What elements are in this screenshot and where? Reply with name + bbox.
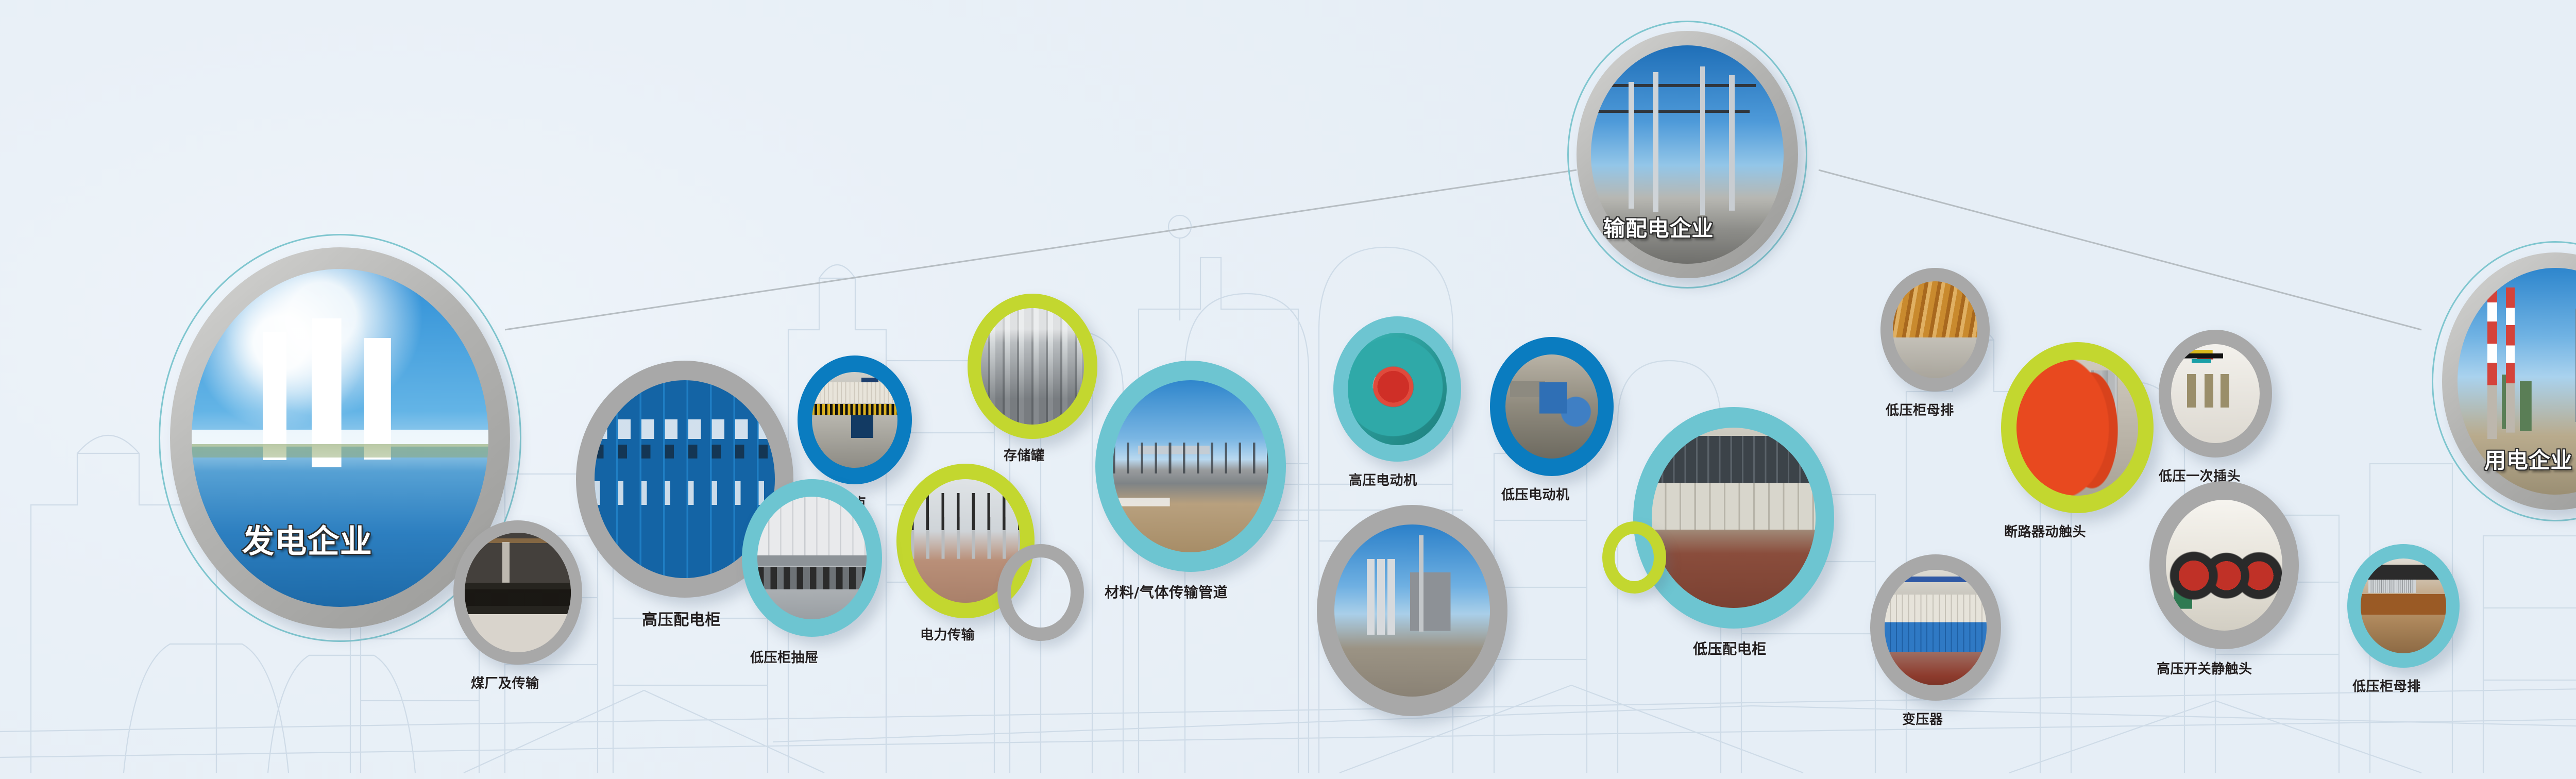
node-lv-busbar-top[interactable]: 低压柜母排 <box>1880 268 1990 392</box>
label-transformer: 变压器 <box>1902 709 1943 728</box>
label-hv-switchgear: 高压配电柜 <box>642 607 721 630</box>
node-lv-cabinet-drawer[interactable]: 低压柜抽屉 <box>742 479 882 637</box>
photo-lv-drawer <box>757 497 867 619</box>
node-material-gas-pipe[interactable]: 材料/气体传输管道 <box>1095 361 1286 572</box>
label-lv-busbar-top: 低压柜母排 <box>1886 400 1954 419</box>
photo-breaker-contact <box>2016 360 2138 496</box>
node-coal-transport[interactable]: 煤厂及传输 <box>453 520 582 665</box>
photo-lv-distribution-panel <box>1652 428 1816 608</box>
label-lv-cabinet-drawer: 低压柜抽屉 <box>750 647 819 666</box>
label-lv-busbar-right: 低压柜母排 <box>2352 676 2421 695</box>
decoration-ring-gray-left <box>997 544 1084 641</box>
photo-lv-motor <box>1505 354 1598 459</box>
hub-label-consumer: 用电企业 <box>2484 443 2572 475</box>
node-lv-distribution[interactable]: 低压配电柜 <box>1633 407 1834 629</box>
hub-power-consumer[interactable]: 用电企业 <box>2442 252 2576 510</box>
node-transformer[interactable]: 变压器 <box>1870 554 2001 701</box>
photo-coal-conveyor <box>465 533 571 652</box>
label-lv-motor: 低压电动机 <box>1501 484 1570 503</box>
node-hv-static-contact[interactable]: 高压开关静触头 <box>2149 481 2299 649</box>
photo-terminal-block <box>812 372 897 468</box>
hub-label-power-generation: 发电企业 <box>242 515 372 562</box>
photo-storage-tanks <box>981 308 1084 425</box>
label-material-gas-pipe: 材料/气体传输管道 <box>1105 581 1228 602</box>
photo-hv-static-contact <box>2166 500 2282 631</box>
node-hv-motor[interactable]: 高压电动机 <box>1333 316 1461 462</box>
hub-transmission-distribution[interactable]: 输配电企业 <box>1577 31 1798 278</box>
photo-lv-cabinet-busbar <box>2361 558 2446 653</box>
decoration-ring-lime-mid <box>1602 521 1666 594</box>
infographic-canvas: 发电企业 输配电企业 用电企业 高压配电柜 煤厂及传输 电气接点 存储罐 <box>0 0 2576 779</box>
label-hv-static-contact: 高压开关静触头 <box>2157 658 2252 678</box>
photo-pipe-rack <box>1113 380 1268 552</box>
node-breaker-contact[interactable]: 断路器动触头 <box>2001 342 2154 513</box>
label-breaker-contact: 断路器动触头 <box>2004 521 2086 540</box>
photo-copper-busbar <box>1893 281 1977 378</box>
node-electrical-contact[interactable]: 电气接点 <box>798 355 912 484</box>
node-lv-motor[interactable]: 低压电动机 <box>1490 337 1614 476</box>
label-hv-motor: 高压电动机 <box>1349 470 1417 489</box>
node-lv-busbar-right[interactable]: 低压柜母排 <box>2347 544 2460 668</box>
photo-lv-primary-plug <box>2171 344 2260 443</box>
label-power-transmission: 电力传输 <box>920 624 975 643</box>
node-chemical-plant[interactable] <box>1317 505 1507 716</box>
photo-chemical-plant <box>1334 524 1490 697</box>
hub-label-transmission: 输配电企业 <box>1603 211 1714 243</box>
node-lv-primary-plug[interactable]: 低压一次插头 <box>2159 330 2272 458</box>
label-coal-transport: 煤厂及传输 <box>471 673 539 692</box>
node-storage-tank[interactable]: 存储罐 <box>968 294 1097 439</box>
photo-transformer <box>1885 570 1987 685</box>
photo-hv-motor <box>1348 333 1447 445</box>
label-lv-distribution: 低压配电柜 <box>1693 638 1767 658</box>
label-storage-tank: 存储罐 <box>1004 445 1045 464</box>
